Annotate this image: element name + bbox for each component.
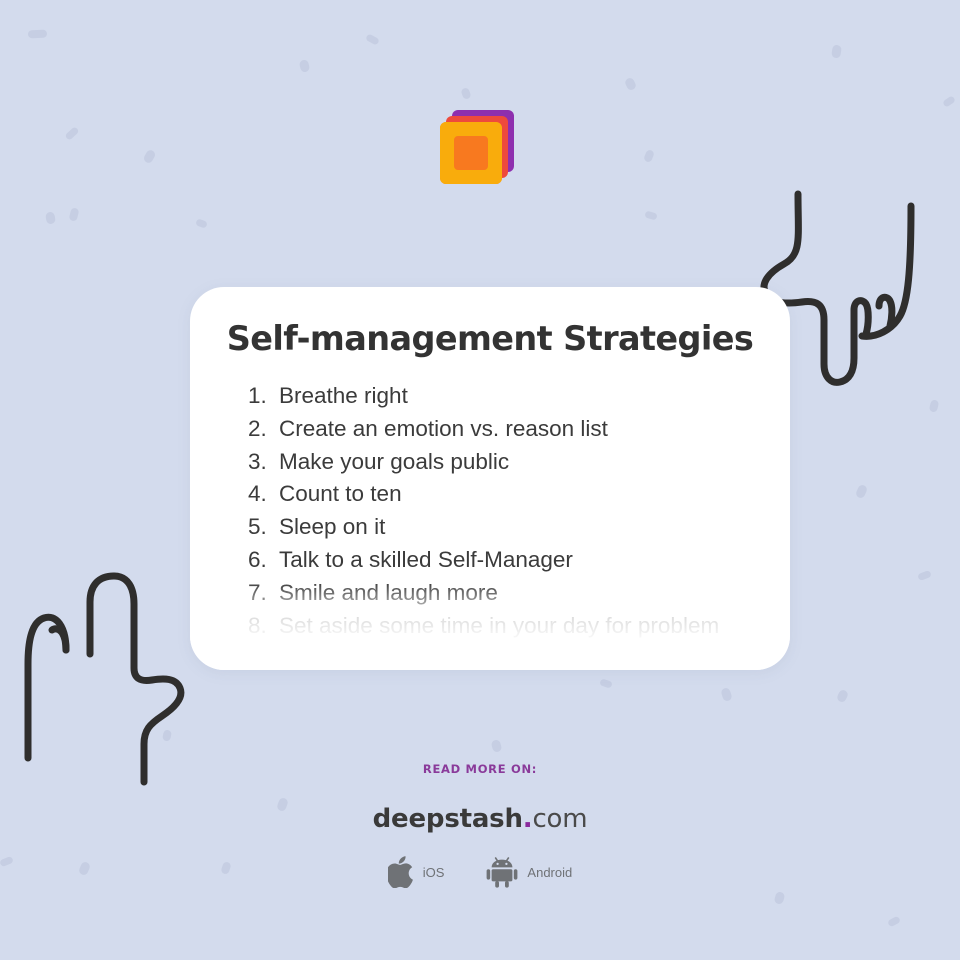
confetti-speck — [836, 689, 849, 704]
idea-card-content: Self-management Strategies Breathe right… — [190, 287, 790, 642]
confetti-speck — [643, 149, 655, 163]
confetti-speck — [45, 211, 56, 224]
confetti-speck — [28, 30, 47, 39]
android-badge[interactable]: Android — [486, 856, 572, 888]
confetti-speck — [855, 484, 869, 500]
confetti-speck — [929, 399, 940, 413]
footer: READ MORE ON: deepstash.com iOS — [0, 762, 960, 888]
list-item: Count to ten — [248, 478, 756, 511]
strategy-list: Breathe right Create an emotion vs. reas… — [224, 380, 756, 642]
deepstash-wordmark[interactable]: deepstash.com — [0, 804, 960, 834]
confetti-speck — [64, 126, 79, 141]
confetti-speck — [831, 44, 842, 58]
list-item: Make your goals public — [248, 446, 756, 479]
confetti-speck — [69, 207, 80, 222]
confetti-speck — [942, 95, 956, 108]
confetti-speck — [917, 570, 932, 581]
list-item: Create an emotion vs. reason list — [248, 413, 756, 446]
app-store-badges: iOS — [0, 856, 960, 888]
confetti-speck — [720, 687, 733, 702]
confetti-speck — [142, 149, 156, 165]
poster-canvas: Self-management Strategies Breathe right… — [0, 0, 960, 960]
list-item: Set aside some time in your day for prob… — [248, 610, 756, 643]
confetti-speck — [162, 729, 172, 741]
ios-label: iOS — [423, 865, 445, 880]
confetti-speck — [299, 59, 311, 73]
android-label: Android — [527, 865, 572, 880]
confetti-speck — [599, 678, 613, 688]
idea-card: Self-management Strategies Breathe right… — [190, 287, 790, 670]
wordmark-dot: . — [523, 804, 533, 834]
confetti-speck — [774, 891, 786, 905]
list-item: Talk to a skilled Self-Manager — [248, 544, 756, 577]
confetti-speck — [887, 916, 901, 928]
confetti-speck — [195, 218, 208, 228]
confetti-speck — [644, 210, 657, 220]
list-item: Sleep on it — [248, 511, 756, 544]
list-item: Smile and laugh more — [248, 577, 756, 610]
confetti-speck — [624, 77, 637, 92]
confetti-speck — [365, 33, 380, 45]
ios-badge[interactable]: iOS — [388, 856, 445, 888]
page-title: Self-management Strategies — [224, 319, 756, 358]
read-more-label: READ MORE ON: — [0, 762, 960, 776]
confetti-speck — [491, 739, 503, 753]
android-icon — [486, 856, 518, 888]
confetti-speck — [460, 87, 471, 100]
list-item: Breathe right — [248, 380, 756, 413]
wordmark-tld: com — [532, 804, 587, 834]
wordmark-brand: deepstash — [373, 804, 523, 834]
pointing-hand-left-icon — [18, 558, 208, 788]
deepstash-logo — [428, 102, 524, 198]
apple-icon — [388, 856, 414, 888]
